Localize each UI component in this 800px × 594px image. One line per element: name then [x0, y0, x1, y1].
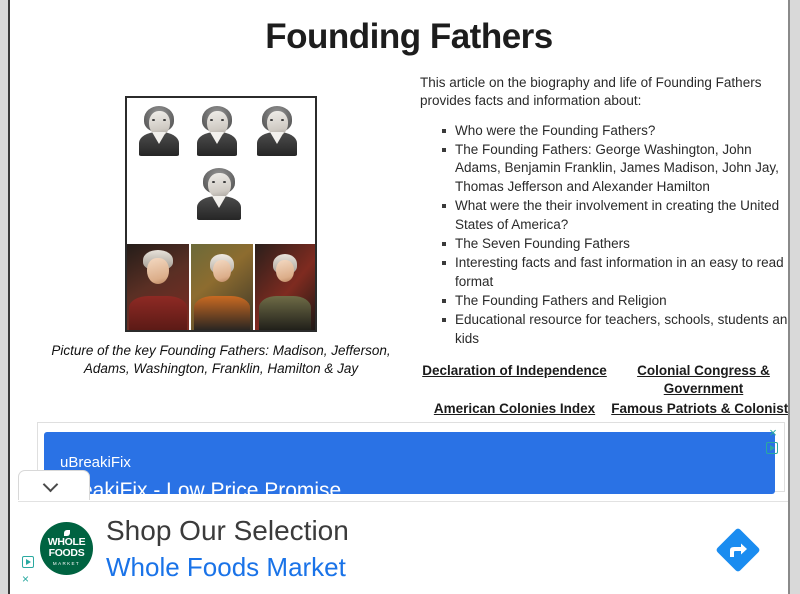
related-links: Declaration of Independence Colonial Con… [420, 362, 790, 418]
directions-arrow-icon[interactable] [718, 530, 758, 570]
ad-headline: Shop Our Selection [106, 515, 349, 547]
text-column: This article on the biography and life o… [420, 74, 790, 418]
fathers-figure: Picture of the key Founding Fathers: Mad… [26, 96, 416, 378]
ad-banner-ubreakifix[interactable]: uBreakiFix BreakiFix - Low Price Promise [44, 432, 775, 494]
founding-fathers-image [125, 96, 317, 332]
ad-headline: BreakiFix - Low Price Promise [60, 479, 341, 494]
related-links-row-bottom: American Colonies Index Famous Patriots … [420, 400, 790, 418]
link-famous-patriots-colonists[interactable]: Famous Patriots & Colonists [611, 400, 790, 418]
figure-caption: Picture of the key Founding Fathers: Mad… [26, 342, 416, 378]
portrait-adams [249, 104, 305, 162]
page-title: Founding Fathers [20, 2, 790, 57]
close-icon[interactable]: × [22, 573, 29, 585]
adchoices-icon[interactable] [766, 442, 780, 456]
page-frame: Founding Fathers [8, 0, 790, 594]
link-cell: Declaration of Independence [420, 362, 609, 398]
portrait-jay [191, 244, 253, 330]
related-links-row-top: Declaration of Independence Colonial Con… [420, 362, 790, 398]
adchoices-icon[interactable] [22, 556, 34, 568]
arrow-glyph [728, 542, 748, 558]
portrait-madison [131, 104, 187, 162]
portrait-franklin [127, 244, 189, 330]
intro-paragraph: This article on the biography and life o… [420, 74, 790, 111]
list-item: Who were the Founding Fathers? [442, 122, 790, 140]
logo-line-1: WHOLE [40, 537, 93, 547]
list-item: What were the their involvement in creat… [442, 197, 790, 234]
ad-slot-top: uBreakiFix BreakiFix - Low Price Promise… [37, 422, 785, 492]
link-american-colonies-index[interactable]: American Colonies Index [434, 400, 595, 418]
logo-line-2: FOODS [40, 548, 93, 558]
link-cell: Colonial Congress & Government [609, 362, 790, 398]
ad-advertiser-link[interactable]: Whole Foods Market [106, 552, 346, 583]
ad-advertiser-name: uBreakiFix [60, 454, 131, 471]
chevron-down-icon [45, 479, 58, 492]
ad-slot-bottom[interactable]: WHOLE FOODS MARKET Shop Our Selection Wh… [18, 501, 790, 594]
portrait-hamilton [255, 244, 315, 330]
figure-column: Picture of the key Founding Fathers: Mad… [26, 74, 416, 378]
list-item: Educational resource for teachers, schoo… [442, 311, 790, 348]
portrait-jefferson [189, 104, 245, 162]
list-item: The Seven Founding Fathers [442, 235, 790, 253]
link-cell: American Colonies Index [420, 400, 609, 418]
topics-list: Who were the Founding Fathers? The Found… [420, 122, 790, 348]
list-item: The Founding Fathers: George Washington,… [442, 141, 790, 196]
list-item: The Founding Fathers and Religion [442, 292, 790, 310]
list-item: Interesting facts and fast information i… [442, 254, 790, 291]
browser-viewport: Founding Fathers [0, 0, 800, 594]
whole-foods-logo: WHOLE FOODS MARKET [40, 522, 93, 575]
logo-line-3: MARKET [40, 561, 93, 566]
link-colonial-congress-government[interactable]: Colonial Congress & Government [609, 362, 790, 397]
link-cell: Famous Patriots & Colonists [609, 400, 790, 418]
ad-collapse-button[interactable] [18, 470, 90, 500]
link-declaration-of-independence[interactable]: Declaration of Independence [422, 362, 607, 380]
close-icon[interactable]: × [766, 426, 780, 440]
portrait-washington [189, 166, 249, 228]
article-container: Founding Fathers [20, 2, 790, 412]
